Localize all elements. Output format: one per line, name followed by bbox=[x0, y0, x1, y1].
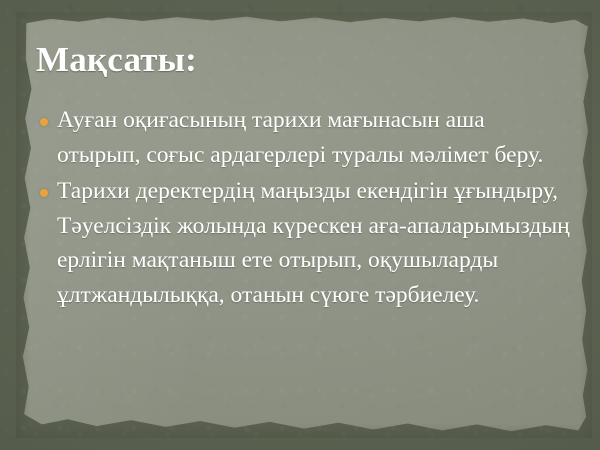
bullet-list: Ауған оқиғасының тарихи мағынасын аша от… bbox=[30, 103, 570, 314]
bullet-text: Тарихи деректердің маңызды екендігін ұғы… bbox=[57, 178, 570, 308]
bullet-dot-icon bbox=[40, 189, 48, 197]
bullet-text: Ауған оқиғасының тарихи мағынасын аша от… bbox=[57, 107, 543, 168]
list-item: Ауған оқиғасының тарихи мағынасын аша от… bbox=[30, 103, 570, 172]
bullet-dot-icon bbox=[40, 118, 48, 126]
slide-content: Мақсаты: Ауған оқиғасының тарихи мағынас… bbox=[0, 0, 600, 450]
list-item: Тарихи деректердің маңызды екендігін ұғы… bbox=[30, 174, 570, 312]
presentation-slide: Мақсаты: Ауған оқиғасының тарихи мағынас… bbox=[0, 0, 600, 450]
slide-title: Мақсаты: bbox=[36, 42, 197, 79]
